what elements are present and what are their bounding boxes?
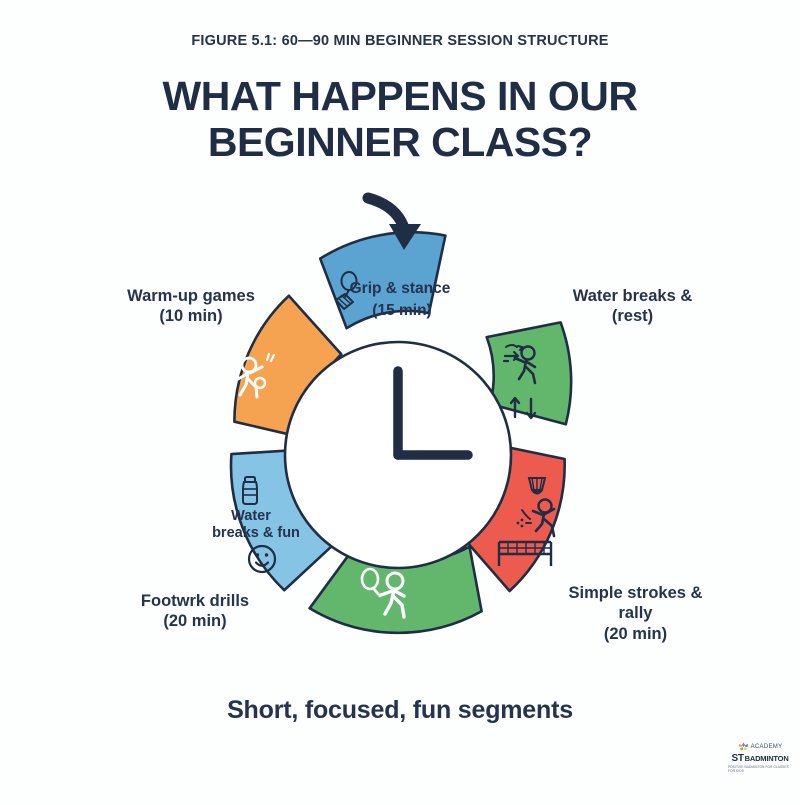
shuttlecock-burst-icon xyxy=(738,742,749,752)
segment-duration-grip-stance: (15 min) xyxy=(372,302,431,319)
outer-label-water-breaks-rest: Water breaks & (rest) xyxy=(540,286,725,327)
segment-label-water-fun-line1: Water xyxy=(231,508,271,524)
segment-label-grip-stance: Grip & stance xyxy=(350,280,451,297)
logo-academy-text: ACADEMY xyxy=(751,744,783,750)
logo-tagline: POSITIVE BADMINTON FOR CLASSES FOR KIDS xyxy=(728,765,792,773)
footer-note: Short, focused, fun segments xyxy=(0,696,800,725)
logo-name-row: ST BADMINTON xyxy=(731,753,788,764)
st-badminton-academy-logo: ACADEMY ST BADMINTON POSITIVE BADMINTON … xyxy=(728,740,792,774)
outer-label-simple-strokes-rally: Simple strokes & rally (20 min) xyxy=(538,583,733,644)
session-structure-wheel: Grip & stance (15 min) xyxy=(0,0,800,800)
outer-label-footwrk-drills: Footwrk drills (20 min) xyxy=(100,591,290,632)
outer-label-warm-up-games: Warm-up games (10 min) xyxy=(96,286,286,327)
segment-label-water-fun-line2: breaks & fun xyxy=(212,525,300,541)
logo-st-text: ST xyxy=(731,753,743,764)
wheel-svg: Grip & stance (15 min) xyxy=(0,0,800,800)
logo-top-row: ACADEMY xyxy=(738,742,783,753)
logo-badminton-text: BADMINTON xyxy=(745,754,789,763)
